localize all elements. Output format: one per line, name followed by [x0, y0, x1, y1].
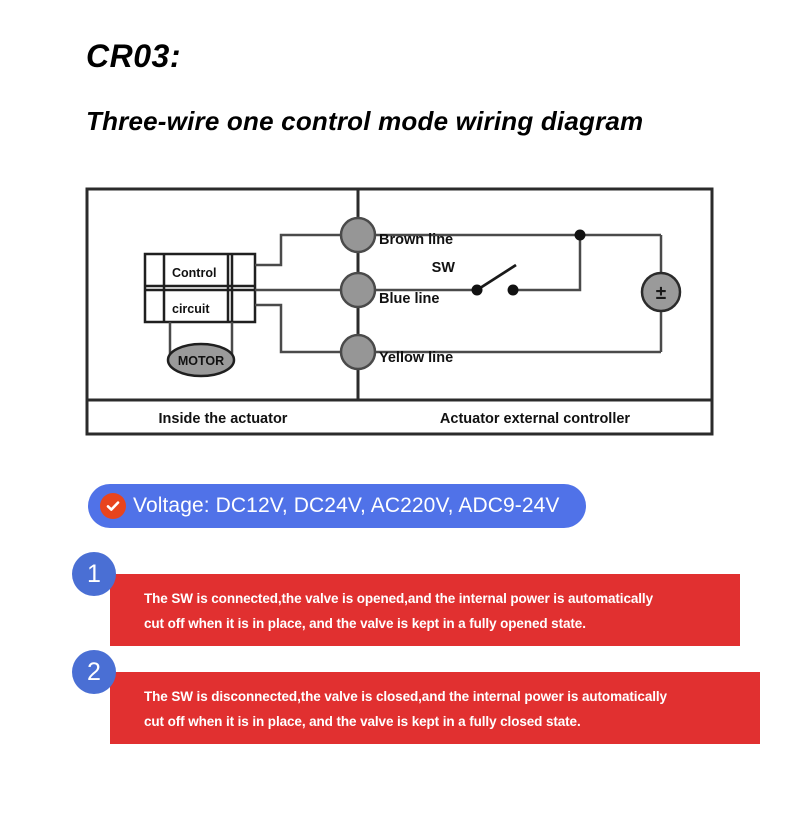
- note-panel-1: The SW is connected,the valve is opened,…: [110, 574, 740, 646]
- terminal-label-blue: Blue line: [379, 291, 439, 307]
- switch-label: SW: [432, 260, 456, 276]
- note-1-line-2: cut off when it is in place, and the val…: [144, 611, 724, 636]
- voltage-text: Voltage: DC12V, DC24V, AC220V, ADC9-24V: [133, 494, 560, 518]
- terminal-label-brown: Brown line: [379, 232, 453, 248]
- terminal-blue[interactable]: [341, 273, 375, 307]
- terminal-label-yellow: Yellow line: [379, 350, 453, 366]
- brown-rail-junction-dot: [575, 230, 586, 241]
- power-source-label: ±: [656, 283, 666, 304]
- note-2-line-2: cut off when it is in place, and the val…: [144, 709, 744, 734]
- switch-pivot-contact: [472, 285, 483, 296]
- motor-label: MOTOR: [178, 354, 224, 368]
- terminal-brown[interactable]: [341, 218, 375, 252]
- zone-label-right: Actuator external controller: [440, 411, 631, 427]
- control-box-line2: circuit: [172, 302, 210, 316]
- page-title: CR03:: [86, 38, 181, 75]
- note-badge-1: 1: [72, 552, 116, 596]
- note-badge-2: 2: [72, 650, 116, 694]
- zone-label-left: Inside the actuator: [159, 411, 288, 427]
- note-panel-2: The SW is disconnected,the valve is clos…: [110, 672, 760, 744]
- switch-right-contact: [508, 285, 519, 296]
- note-2-line-1: The SW is disconnected,the valve is clos…: [144, 684, 744, 709]
- voltage-banner: Voltage: DC12V, DC24V, AC220V, ADC9-24V: [88, 484, 586, 528]
- note-1-line-1: The SW is connected,the valve is opened,…: [144, 586, 724, 611]
- control-box-line1: Control: [172, 266, 216, 280]
- terminal-yellow[interactable]: [341, 335, 375, 369]
- wiring-diagram: Control circuit MOTOR: [80, 182, 720, 442]
- page-subtitle: Three-wire one control mode wiring diagr…: [86, 106, 643, 137]
- check-icon: [100, 493, 126, 519]
